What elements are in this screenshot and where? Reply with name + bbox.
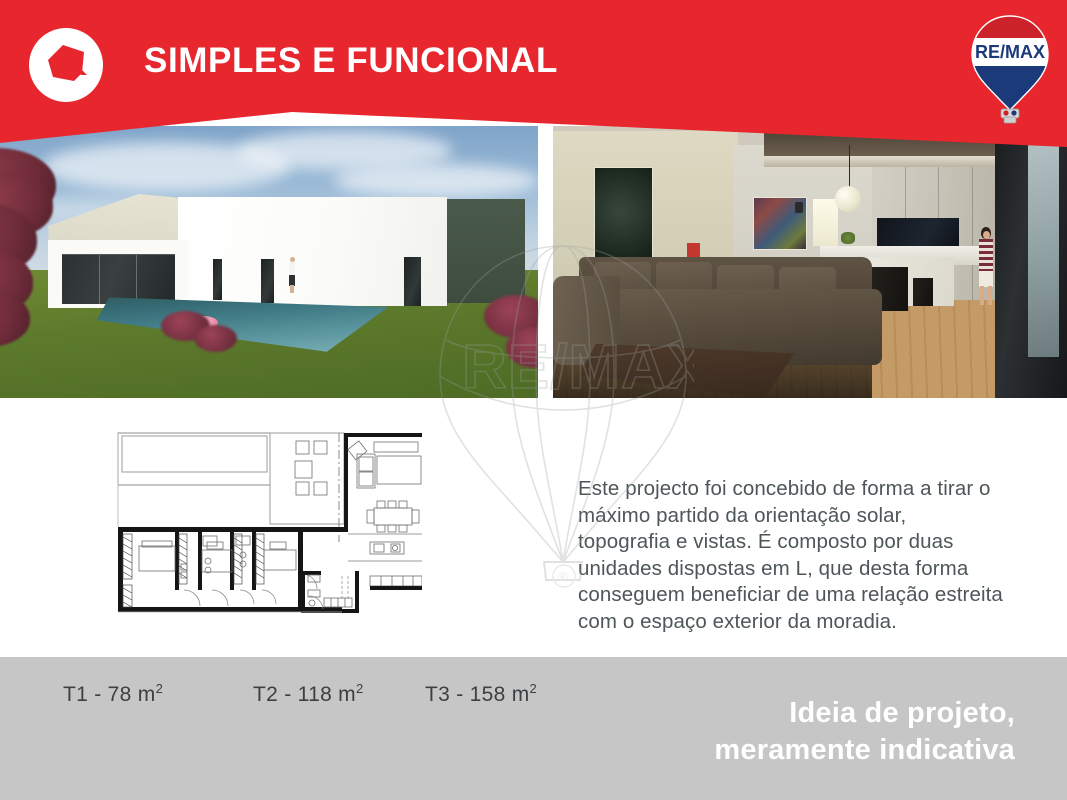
person-figure [977, 227, 995, 307]
house-side-wall [438, 199, 524, 302]
description-line: conseguem beneficiar de uma relação estr… [578, 582, 1008, 609]
shelf [764, 156, 1011, 167]
door-slot [404, 257, 421, 306]
page-title: SIMPLES E FUNCIONAL [144, 39, 558, 83]
description-line: com o espaço exterior da moradia. [578, 609, 1008, 636]
exterior-render-photo [0, 126, 538, 398]
pendant-lamp [835, 186, 861, 212]
area-unit-superscript: 2 [530, 681, 538, 696]
project-description: Este projecto foi concebido de forma a t… [578, 476, 1008, 635]
cloud [334, 164, 538, 197]
remax-balloon-logo: RE/MAX [967, 12, 1053, 128]
remax-logo-text: RE/MAX [975, 42, 1045, 62]
disclaimer-line-1: Ideia de projeto, [714, 695, 1015, 732]
shrub [194, 325, 237, 352]
description-line: topografia e vistas. É composto por duas [578, 529, 1008, 556]
description-line: unidades dispostas em L, que desta forma [578, 556, 1008, 583]
area-label-t2: T2 - 118 m2 [253, 681, 364, 707]
area-label-t1: T1 - 78 m2 [63, 681, 163, 707]
description-line: máximo partido da orientação solar, [578, 503, 1008, 530]
floor-plan-drawing [112, 424, 422, 638]
watermark-registered-mark: ® [558, 569, 568, 584]
area-label-t3: T3 - 158 m2 [425, 681, 537, 707]
wall-sconce [795, 202, 803, 213]
disclaimer-text: Ideia de projeto, meramente indicativa [714, 695, 1015, 769]
window-slot [213, 259, 223, 300]
area-unit-superscript: 2 [156, 681, 164, 696]
person-figure [288, 257, 297, 293]
slide-canvas: Este projecto foi concebido de forma a t… [0, 0, 1067, 800]
sliding-door-glass [1028, 134, 1059, 357]
interior-render-photo [553, 126, 1067, 398]
stool [913, 278, 934, 305]
area-label-t2-text: T2 - 118 m [253, 683, 356, 706]
area-label-t3-text: T3 - 158 m [425, 683, 530, 706]
tree [0, 148, 108, 360]
area-unit-superscript: 2 [356, 681, 364, 696]
pendant-cord [849, 145, 851, 191]
window-strip [813, 199, 839, 245]
description-line: Este projecto foi concebido de forma a t… [578, 476, 1008, 503]
area-label-t1-text: T1 - 78 m [63, 683, 156, 706]
disclaimer-line-2: meramente indicativa [714, 732, 1015, 769]
house-pentagon-icon [29, 28, 103, 102]
potted-plant [841, 232, 855, 244]
window-slot [261, 259, 274, 303]
